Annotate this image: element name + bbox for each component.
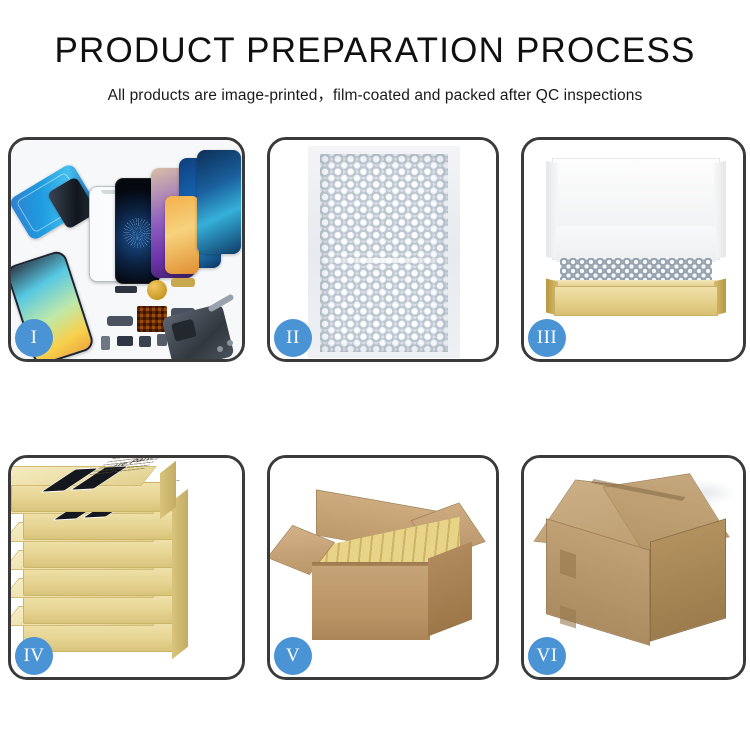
small-part-1-icon <box>117 336 133 346</box>
sealed-carton-side-icon <box>650 518 726 641</box>
process-step-panel-5[interactable]: V <box>267 455 499 680</box>
carton-side-face-icon <box>428 542 472 637</box>
small-part-2-icon <box>139 336 151 347</box>
product-preparation-page: PRODUCT PREPARATION PROCESS All products… <box>0 0 750 750</box>
page-title: PRODUCT PREPARATION PROCESS <box>0 30 750 72</box>
foam-padding-icon <box>556 226 716 262</box>
inner-box-front-icon <box>554 286 718 316</box>
retail-box-bottom-2 <box>23 594 173 624</box>
bubble-wrap-bubbles-icon <box>320 154 448 352</box>
screw-1-icon <box>217 346 223 352</box>
retail-box-stack: Mobile Phone Spare Parts Mobile Phone Sp… <box>17 468 242 673</box>
step-badge-3: III <box>528 319 566 357</box>
step-badge-5: V <box>274 637 312 675</box>
cyan-phone-icon <box>197 150 241 254</box>
bubble-wrap-seam-icon <box>320 258 448 263</box>
step-badge-1: I <box>15 319 53 357</box>
gold-phone-icon <box>165 196 199 274</box>
retail-box-labeled-lower: Mobile Phone Spare Parts <box>23 510 173 540</box>
process-step-panel-1[interactable]: I <box>8 137 245 362</box>
process-step-grid: I II III <box>8 137 745 737</box>
carton-tape-1-icon <box>560 550 576 579</box>
page-header: PRODUCT PREPARATION PROCESS All products… <box>0 30 750 105</box>
step-badge-2: II <box>274 319 312 357</box>
process-step-panel-4[interactable]: Mobile Phone Spare Parts Mobile Phone Sp… <box>8 455 245 680</box>
connector-grid-icon <box>137 306 167 332</box>
process-step-panel-6[interactable]: VI <box>521 455 746 680</box>
chip-part-icon <box>115 286 137 293</box>
flex-cable-left-icon <box>107 316 133 326</box>
process-step-panel-2[interactable]: II <box>267 137 499 362</box>
process-step-panel-3[interactable]: III <box>521 137 746 362</box>
speaker-coil-icon <box>147 280 167 300</box>
carton-tape-2-icon <box>560 606 576 629</box>
retail-box-labeled-upper: Mobile Phone Spare Parts <box>11 482 161 512</box>
step-badge-4: IV <box>15 637 53 675</box>
small-part-4-icon <box>101 336 110 350</box>
retail-box-bottom-3 <box>23 566 173 596</box>
carton-front-face-icon <box>312 566 430 640</box>
gold-flex-cable-icon <box>171 278 195 287</box>
retail-box-top-face: Mobile Phone Spare Parts <box>11 466 157 486</box>
screw-2-icon <box>227 340 233 346</box>
step-badge-6: VI <box>528 637 566 675</box>
box-spec-lines <box>89 458 170 475</box>
page-subtitle: All products are image-printed，film-coat… <box>0 83 750 105</box>
retail-box-middle <box>23 538 173 568</box>
